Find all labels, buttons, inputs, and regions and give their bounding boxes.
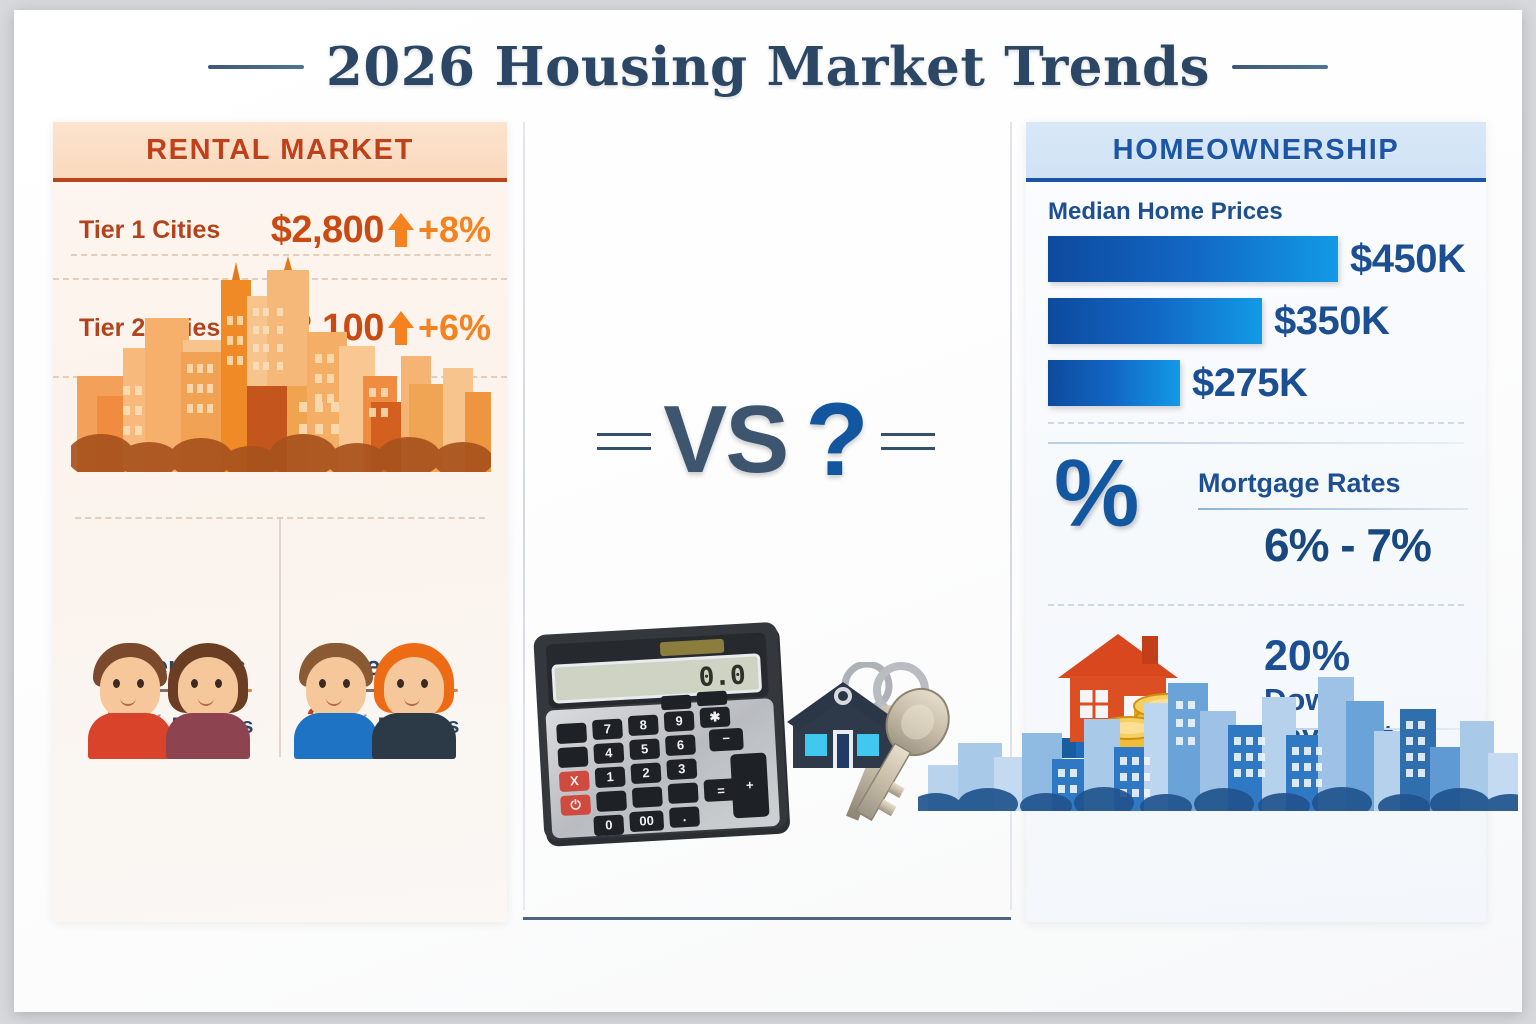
homeownership-heading: HOMEOWNERSHIP bbox=[1026, 122, 1486, 182]
mortgage-rates-section: % Mortgage Rates 6% - 7% bbox=[1048, 442, 1464, 590]
section-divider bbox=[1048, 422, 1464, 424]
homeownership-body: Median Home Prices $450K $350K $275K % M… bbox=[1026, 198, 1486, 808]
homeownership-panel: HOMEOWNERSHIP Median Home Prices $450K $… bbox=[1026, 122, 1486, 922]
mortgage-rates-label: Mortgage Rates bbox=[1198, 468, 1401, 499]
tier-label: Tier 1 Cities bbox=[79, 216, 220, 245]
svg-text:✱: ✱ bbox=[709, 709, 721, 725]
orange-city-skyline-illustration bbox=[71, 254, 491, 474]
price-bar-value: $450K bbox=[1350, 237, 1465, 282]
rental-market-heading: RENTAL MARKET bbox=[53, 122, 507, 182]
versus-badge: VS ? bbox=[510, 376, 1022, 504]
median-home-prices-title: Median Home Prices bbox=[1048, 198, 1486, 226]
svg-text:8: 8 bbox=[639, 717, 647, 732]
table-row: $275K bbox=[1048, 360, 1486, 406]
demographic-genz: Gen Z 35% Renters bbox=[279, 519, 485, 757]
svg-text:⏻: ⏻ bbox=[570, 797, 582, 813]
table-row: $350K bbox=[1048, 298, 1486, 344]
price-bar-value: $275K bbox=[1192, 361, 1307, 406]
demographic-millennials: Millennials 45% Renters bbox=[75, 519, 279, 757]
calculator-illustration: 0.0 bbox=[527, 615, 807, 860]
svg-text:+: + bbox=[746, 777, 755, 792]
svg-text:1: 1 bbox=[606, 769, 614, 784]
blue-city-skyline-illustration bbox=[918, 661, 1518, 811]
title-rule-right bbox=[1232, 65, 1328, 69]
price-bar bbox=[1048, 236, 1338, 282]
svg-text:.: . bbox=[682, 809, 686, 824]
table-row: $450K bbox=[1048, 236, 1486, 282]
infographic-canvas: 2026 Housing Market Trends RENTAL MARKET… bbox=[14, 10, 1522, 1012]
svg-text:5: 5 bbox=[641, 741, 649, 756]
up-arrow-icon bbox=[388, 213, 414, 247]
genz-couple-icon bbox=[295, 531, 471, 643]
svg-text:3: 3 bbox=[678, 761, 686, 776]
price-bar-value: $350K bbox=[1274, 299, 1389, 344]
calculator-display-text: 0.0 bbox=[698, 661, 747, 694]
rental-market-body: Tier 1 Cities $2,800 +8% Tier 2 Cities $… bbox=[53, 182, 507, 474]
svg-text:6: 6 bbox=[676, 737, 684, 752]
demographics-section: Millennials 45% Renters bbox=[75, 517, 485, 757]
tier-delta: +8% bbox=[418, 209, 491, 251]
percent-icon: % bbox=[1054, 450, 1139, 538]
svg-text:9: 9 bbox=[675, 713, 683, 728]
svg-text:7: 7 bbox=[603, 721, 611, 736]
price-bar bbox=[1048, 298, 1262, 344]
mortgage-rates-value: 6% - 7% bbox=[1264, 518, 1431, 572]
svg-text:−: − bbox=[722, 730, 731, 745]
page-title-text: 2026 Housing Market Trends bbox=[326, 36, 1210, 98]
mortgage-underline bbox=[1198, 508, 1468, 510]
svg-text:0: 0 bbox=[605, 817, 613, 832]
millennials-couple-icon bbox=[89, 531, 265, 643]
svg-text:X: X bbox=[570, 773, 580, 788]
page-title: 2026 Housing Market Trends bbox=[14, 32, 1522, 102]
rental-market-panel: RENTAL MARKET Tier 1 Cities $2,800 +8% T… bbox=[53, 122, 507, 922]
price-bar bbox=[1048, 360, 1180, 406]
svg-text:=: = bbox=[717, 783, 726, 798]
tier-price: $2,800 bbox=[271, 209, 384, 252]
vs-text: VS bbox=[663, 385, 787, 495]
question-mark-icon: ? bbox=[805, 381, 869, 500]
center-divider-left bbox=[523, 122, 525, 910]
svg-text:2: 2 bbox=[642, 765, 650, 780]
svg-text:00: 00 bbox=[639, 813, 654, 829]
tier-values: $2,800 +8% bbox=[271, 209, 491, 252]
title-rule-left bbox=[208, 65, 304, 69]
center-baseline bbox=[523, 917, 1011, 920]
